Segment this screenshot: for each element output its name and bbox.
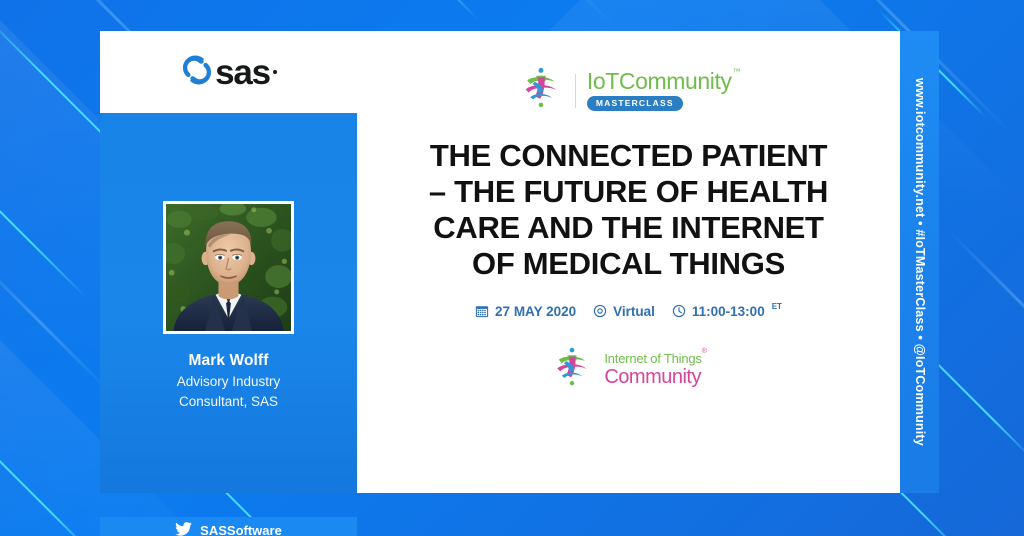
sas-wordmark: sas xyxy=(215,55,270,90)
background-streak xyxy=(0,120,87,298)
event-location-value: Virtual xyxy=(613,304,655,319)
logo-line-community: Community xyxy=(604,367,706,387)
background-streak xyxy=(428,0,614,26)
iot-community-mark-icon xyxy=(518,65,564,116)
speaker-panel: Mark Wolff Advisory Industry Consultant,… xyxy=(100,113,357,493)
vertical-social-bar: www.iotcommunity.net • #IoTMasterClass •… xyxy=(900,31,939,493)
masterclass-badge: MASTERCLASS xyxy=(587,96,683,111)
sas-logo: sas xyxy=(100,31,357,113)
sas-period xyxy=(273,70,277,74)
background-streak xyxy=(0,420,94,536)
event-date: 27 MAY 2020 xyxy=(475,304,576,319)
background-streak xyxy=(329,0,479,20)
twitter-handle: SASSoftware xyxy=(200,523,282,536)
event-meta: 27 MAY 2020 Virtual xyxy=(475,304,782,319)
calendar-icon xyxy=(475,304,489,318)
page-title: THE CONNECTED PATIENT – THE FUTURE OF HE… xyxy=(429,138,829,282)
sas-swirl-icon xyxy=(180,53,214,92)
logo-divider xyxy=(575,74,576,108)
speaker-avatar xyxy=(163,201,294,334)
speaker-photo xyxy=(166,204,291,331)
event-time: 11:00-13:00ET xyxy=(672,304,782,319)
wordmark-community: Community xyxy=(619,68,732,94)
location-pin-icon xyxy=(593,304,607,318)
iot-community-mark-icon xyxy=(550,345,594,394)
background-streak xyxy=(948,230,1024,374)
event-timezone: ET xyxy=(772,302,782,311)
twitter-bird-icon xyxy=(175,522,192,536)
speaker-role-line2: Consultant, SAS xyxy=(100,392,357,412)
content-column: IoTCommunity™ MASTERCLASS THE CONNECTED … xyxy=(357,31,900,493)
iot-community-masterclass-logo: IoTCommunity™ MASTERCLASS xyxy=(518,65,739,116)
vertical-bar-text: www.iotcommunity.net • #IoTMasterClass •… xyxy=(913,78,927,446)
wordmark-io: IoT xyxy=(587,68,619,94)
speaker-name: Mark Wolff xyxy=(100,351,357,370)
iot-community-wordmark: IoTCommunity™ xyxy=(587,70,739,93)
slide-card: Mark Wolff Advisory Industry Consultant,… xyxy=(100,31,900,493)
event-location: Virtual xyxy=(593,304,655,319)
background-streak xyxy=(0,250,111,394)
webinar-promo-slide: Mark Wolff Advisory Industry Consultant,… xyxy=(0,0,1024,536)
background-streak xyxy=(0,470,53,536)
internet-of-things-community-logo: Internet of Things® Community xyxy=(550,345,706,394)
event-time-value: 11:00-13:00 xyxy=(692,304,765,319)
speaker-role: Advisory Industry Consultant, SAS xyxy=(100,372,357,411)
speaker-info: Mark Wolff Advisory Industry Consultant,… xyxy=(100,351,357,412)
twitter-handle-bar[interactable]: SASSoftware xyxy=(100,517,357,536)
clock-icon xyxy=(672,304,686,318)
event-date-value: 27 MAY 2020 xyxy=(495,304,576,319)
speaker-role-line1: Advisory Industry xyxy=(100,372,357,392)
trademark-symbol: ™ xyxy=(733,67,741,76)
registered-symbol: ® xyxy=(702,348,707,355)
logo-line-internet-of-things: Internet of Things® xyxy=(604,352,706,365)
